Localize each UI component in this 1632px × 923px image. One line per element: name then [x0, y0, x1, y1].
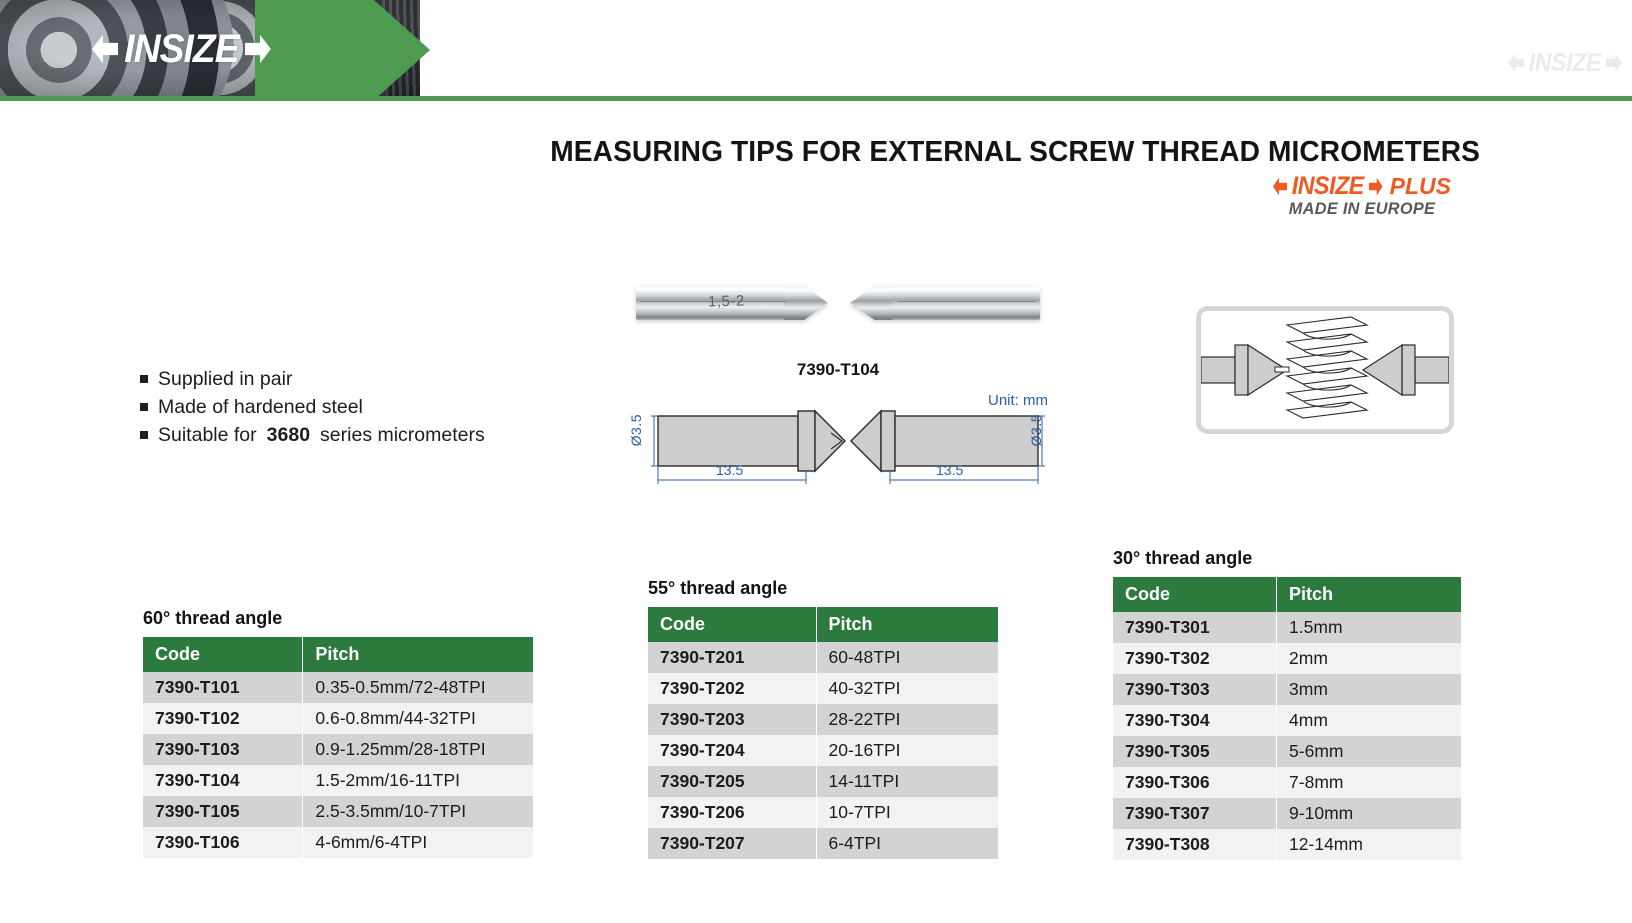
cell-pitch: 20-16TPI: [816, 735, 998, 766]
table-30-degree: 30° thread angle Code Pitch 7390-T3011.5…: [1113, 548, 1461, 860]
column-header-code: Code: [143, 637, 303, 672]
arrow-right-icon: [245, 32, 271, 66]
cell-pitch: 40-32TPI: [816, 673, 998, 704]
table-header-row: Code Pitch: [143, 637, 533, 672]
table-row: 7390-T3022mm: [1113, 643, 1461, 674]
tip-shank: [892, 286, 1040, 320]
table-title: 60° thread angle: [143, 608, 533, 629]
table-row: 7390-T3079-10mm: [1113, 798, 1461, 829]
cell-code: 7390-T303: [1113, 674, 1277, 705]
cell-code: 7390-T307: [1113, 798, 1277, 829]
cell-code: 7390-T301: [1113, 612, 1277, 643]
length-label-left: 13.5: [716, 462, 743, 478]
list-item: Suitable for 3680 series micrometers: [140, 424, 485, 447]
thread-measurement-illustration: [1196, 306, 1454, 434]
cell-code: 7390-T101: [143, 672, 303, 703]
cell-code: 7390-T306: [1113, 767, 1277, 798]
table-row: 7390-T3011.5mm: [1113, 612, 1461, 643]
table-row: 7390-T30812-14mm: [1113, 829, 1461, 860]
table-row: 7390-T20240-32TPI: [648, 673, 998, 704]
cell-code: 7390-T202: [648, 673, 816, 704]
cell-code: 7390-T204: [648, 735, 816, 766]
table-row: 7390-T1020.6-0.8mm/44-32TPI: [143, 703, 533, 734]
list-item: Made of hardened steel: [140, 396, 485, 419]
badge-made-in-text: MADE IN EUROPE: [1262, 199, 1462, 219]
cell-code: 7390-T203: [648, 704, 816, 735]
cell-code: 7390-T207: [648, 828, 816, 859]
table-title: 30° thread angle: [1113, 548, 1461, 569]
cell-pitch: 4mm: [1277, 705, 1461, 736]
product-photo: 1,5-2: [628, 272, 1048, 340]
watermark-text: INSIZE: [1529, 52, 1601, 74]
cell-pitch: 3mm: [1277, 674, 1461, 705]
table-row: 7390-T20328-22TPI: [648, 704, 998, 735]
cell-code: 7390-T304: [1113, 705, 1277, 736]
cell-pitch: 5-6mm: [1277, 736, 1461, 767]
cell-pitch: 6-4TPI: [816, 828, 998, 859]
spec-table: Code Pitch 7390-T20160-48TPI 7390-T20240…: [648, 607, 998, 859]
cell-pitch: 12-14mm: [1277, 829, 1461, 860]
list-item: Supplied in pair: [140, 368, 485, 391]
cell-pitch: 1.5mm: [1277, 612, 1461, 643]
cell-pitch: 2.5-3.5mm/10-7TPI: [303, 796, 533, 827]
column-header-code: Code: [1113, 577, 1277, 612]
cell-pitch: 0.35-0.5mm/72-48TPI: [303, 672, 533, 703]
badge-plus-text: PLUS: [1390, 176, 1451, 197]
cell-code: 7390-T308: [1113, 829, 1277, 860]
table-55-degree: 55° thread angle Code Pitch 7390-T20160-…: [648, 578, 998, 859]
cell-code: 7390-T103: [143, 734, 303, 765]
page-header: INSIZE INSIZE: [0, 0, 1632, 104]
tip-cone: [784, 286, 828, 320]
tip-cone: [850, 286, 896, 320]
column-header-pitch: Pitch: [816, 607, 998, 642]
feature-text-bold: 3680: [267, 424, 310, 447]
feature-text-lead: Suitable for: [158, 424, 257, 447]
table-title: 55° thread angle: [648, 578, 998, 599]
measuring-tip-left: 1,5-2: [636, 286, 826, 320]
table-row: 7390-T20160-48TPI: [648, 642, 998, 673]
cell-pitch: 60-48TPI: [816, 642, 998, 673]
table-row: 7390-T20610-7TPI: [648, 797, 998, 828]
bullet-square-icon: [140, 375, 148, 383]
table-row: 7390-T20420-16TPI: [648, 735, 998, 766]
catalog-page: INSIZE INSIZE MEASURING TIPS FOR EXTERNA…: [0, 0, 1632, 923]
arrow-left-icon: [92, 32, 118, 66]
table-header-row: Code Pitch: [1113, 577, 1461, 612]
table-row: 7390-T2076-4TPI: [648, 828, 998, 859]
table-header-row: Code Pitch: [648, 607, 998, 642]
table-row: 7390-T1064-6mm/6-4TPI: [143, 827, 533, 858]
dimension-drawing: Unit: mm Ø3.5 13.5: [628, 392, 1048, 492]
length-label-right: 13.5: [936, 462, 963, 478]
cell-pitch: 1.5-2mm/16-11TPI: [303, 765, 533, 796]
cell-code: 7390-T205: [648, 766, 816, 797]
product-caption: 7390-T104: [628, 360, 1048, 380]
cell-pitch: 2mm: [1277, 643, 1461, 674]
table-row: 7390-T3067-8mm: [1113, 767, 1461, 798]
bullet-square-icon: [140, 403, 148, 411]
spec-table: Code Pitch 7390-T1010.35-0.5mm/72-48TPI …: [143, 637, 533, 858]
column-header-pitch: Pitch: [303, 637, 533, 672]
feature-text-tail: series micrometers: [320, 424, 485, 447]
table-row: 7390-T3055-6mm: [1113, 736, 1461, 767]
tip-engraving: 1,5-2: [708, 293, 745, 311]
diameter-label-left: Ø3.5: [628, 414, 644, 446]
insize-logo-text: INSIZE: [124, 32, 238, 66]
badge-brand-text: INSIZE: [1292, 176, 1364, 197]
measuring-tip-right: [850, 286, 1040, 320]
cell-pitch: 7-8mm: [1277, 767, 1461, 798]
cell-pitch: 4-6mm/6-4TPI: [303, 827, 533, 858]
cell-code: 7390-T302: [1113, 643, 1277, 674]
cell-code: 7390-T305: [1113, 736, 1277, 767]
watermark-arrow-left-icon: [1508, 52, 1524, 74]
cell-pitch: 9-10mm: [1277, 798, 1461, 829]
cell-code: 7390-T201: [648, 642, 816, 673]
cell-code: 7390-T104: [143, 765, 303, 796]
bullet-square-icon: [140, 431, 148, 439]
left-part-drawing: [646, 392, 846, 492]
cell-code: 7390-T206: [648, 797, 816, 828]
green-rule: [0, 96, 1632, 101]
feature-text: Supplied in pair: [158, 368, 292, 391]
table-row: 7390-T1010.35-0.5mm/72-48TPI: [143, 672, 533, 703]
column-header-pitch: Pitch: [1277, 577, 1461, 612]
table-row: 7390-T20514-11TPI: [648, 766, 998, 797]
badge-brand-row: INSIZE PLUS: [1258, 176, 1466, 197]
table-row: 7390-T3033mm: [1113, 674, 1461, 705]
page-title: MEASURING TIPS FOR EXTERNAL SCREW THREAD…: [44, 136, 1480, 169]
insize-plus-badge: INSIZE PLUS MADE IN EUROPE: [1258, 176, 1466, 219]
watermark-arrow-right-icon: [1606, 52, 1622, 74]
diameter-label-right: Ø3.5: [1028, 414, 1044, 446]
cell-pitch: 14-11TPI: [816, 766, 998, 797]
cell-code: 7390-T102: [143, 703, 303, 734]
cell-code: 7390-T106: [143, 827, 303, 858]
thread-diagram-svg: [1201, 311, 1449, 429]
feature-text: Made of hardened steel: [158, 396, 363, 419]
cell-pitch: 0.9-1.25mm/28-18TPI: [303, 734, 533, 765]
cell-pitch: 28-22TPI: [816, 704, 998, 735]
feature-list: Supplied in pair Made of hardened steel …: [140, 368, 485, 452]
badge-arrow-left-icon: [1273, 176, 1287, 197]
insize-logo: INSIZE: [92, 32, 271, 66]
table-row: 7390-T1030.9-1.25mm/28-18TPI: [143, 734, 533, 765]
cell-pitch: 0.6-0.8mm/44-32TPI: [303, 703, 533, 734]
table-row: 7390-T1041.5-2mm/16-11TPI: [143, 765, 533, 796]
table-60-degree: 60° thread angle Code Pitch 7390-T1010.3…: [143, 608, 533, 858]
table-row: 7390-T1052.5-3.5mm/10-7TPI: [143, 796, 533, 827]
cell-pitch: 10-7TPI: [816, 797, 998, 828]
column-header-code: Code: [648, 607, 816, 642]
cell-code: 7390-T105: [143, 796, 303, 827]
tip-seam-line: [898, 301, 1036, 302]
insize-watermark: INSIZE: [1508, 52, 1622, 74]
badge-arrow-right-icon: [1369, 176, 1383, 197]
spec-table: Code Pitch 7390-T3011.5mm 7390-T3022mm 7…: [1113, 577, 1461, 860]
table-row: 7390-T3044mm: [1113, 705, 1461, 736]
